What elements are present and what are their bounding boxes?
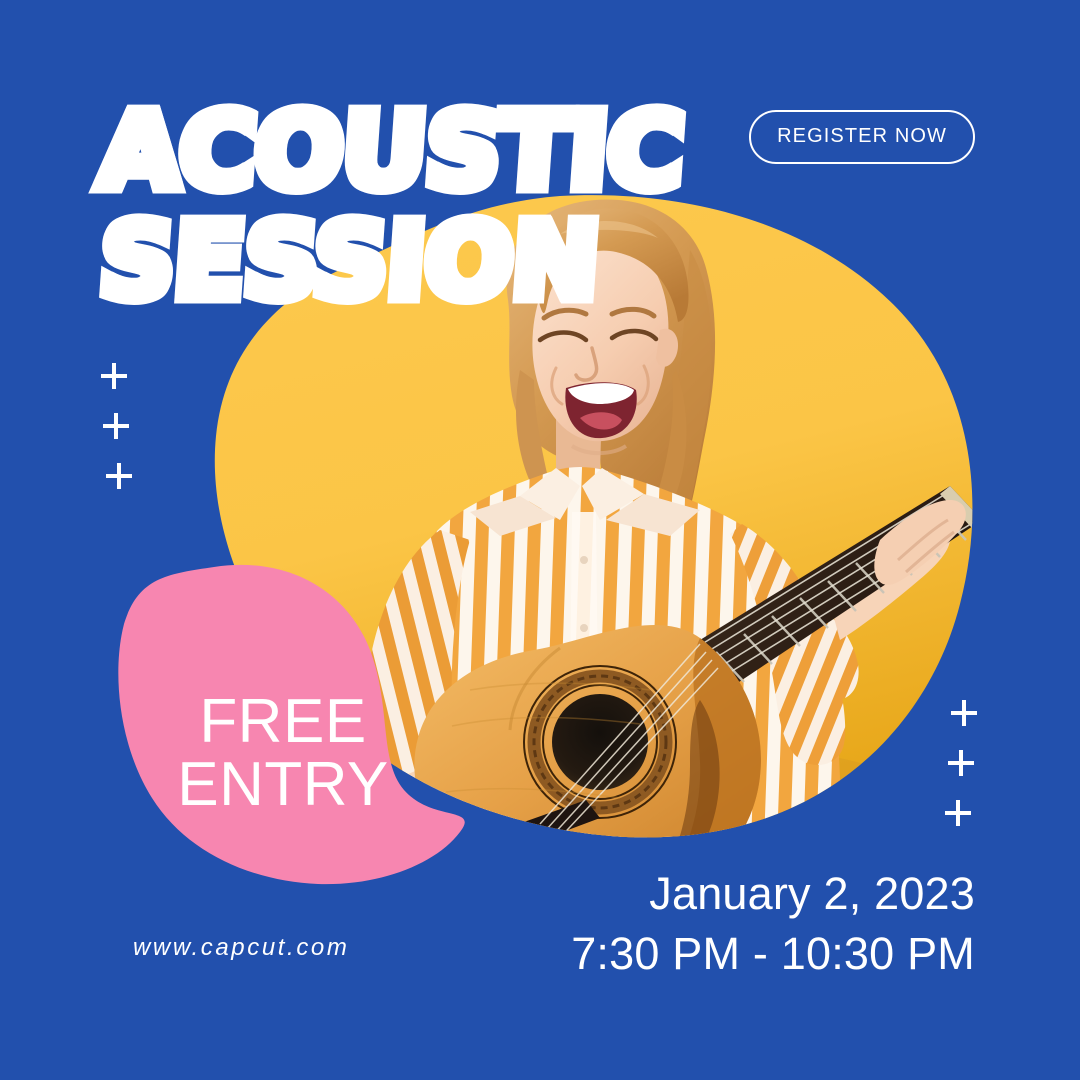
plus-icon [106, 463, 132, 489]
page-title: ACOUSTIC SESSION [100, 104, 683, 309]
plus-icon [103, 413, 129, 439]
plus-icon [948, 750, 974, 776]
event-date: January 2, 2023 [571, 864, 975, 925]
plus-icon [951, 700, 977, 726]
title-line-2: SESSION [97, 214, 686, 310]
free-entry-line-1: FREE [199, 687, 366, 756]
register-now-button[interactable]: REGISTER NOW [749, 110, 975, 164]
website-url: www.capcut.com [133, 934, 349, 962]
event-datetime: January 2, 2023 7:30 PM - 10:30 PM [571, 864, 975, 986]
event-time: 7:30 PM - 10:30 PM [571, 924, 975, 985]
title-line-1: ACOUSTIC [97, 104, 686, 200]
plus-icon [945, 800, 971, 826]
free-entry-line-2: ENTRY [128, 753, 438, 816]
poster-canvas: ACOUSTIC SESSION REGISTER NOW FREE ENTRY… [0, 0, 1080, 1080]
plus-icon [101, 363, 127, 389]
free-entry-badge: FREE ENTRY [128, 690, 438, 816]
